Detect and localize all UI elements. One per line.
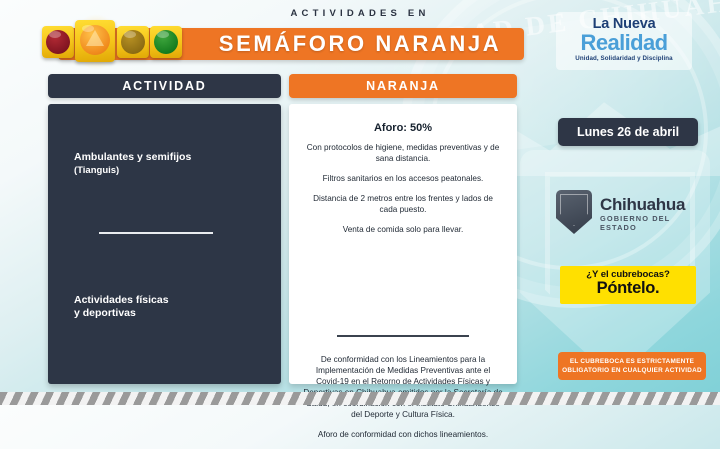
activity-list-panel: Ambulantes y semifijos (Tianguis) Activi…	[48, 104, 281, 384]
rule-item: Con protocolos de higiene, medidas preve…	[305, 142, 501, 164]
legal-note-item: Aforo de conformidad con dichos lineamie…	[303, 429, 503, 440]
traffic-light-yellow-icon	[117, 26, 149, 58]
gov-logo-text: Chihuahua GOBIERNO DEL ESTADO	[600, 196, 706, 232]
traffic-light-graphic	[42, 18, 182, 66]
activity-divider	[99, 232, 213, 234]
realidad-logo-line2: Realidad	[556, 32, 692, 54]
state-shield-icon	[556, 190, 592, 234]
mask-banner-line1: EL CUBREBOCA ES ESTRICTAMENTE	[570, 357, 694, 366]
rule-item: Filtros sanitarios en los accesos peaton…	[305, 173, 501, 184]
column-header-activity: ACTIVIDAD	[48, 74, 281, 98]
watermark-shield	[520, 150, 710, 380]
hazard-stripe-footer	[0, 392, 720, 405]
traffic-light-orange-icon	[75, 20, 115, 62]
mask-banner-line2: OBLIGATORIO EN CUALQUIER ACTIVIDAD	[562, 366, 702, 375]
chihuahua-government-logo: Chihuahua GOBIERNO DEL ESTADO	[556, 190, 706, 236]
activity-item-1: Ambulantes y semifijos (Tianguis)	[74, 151, 191, 177]
mask-campaign-badge: ¿Y el cubrebocas? Póntelo.	[560, 266, 696, 304]
page-title: SEMÁFORO NARANJA	[200, 31, 520, 57]
activity-item-2-subtitle: y deportivas	[74, 307, 169, 320]
legal-note-item: De conformidad con los Lineamientos para…	[303, 354, 503, 420]
realidad-logo-tagline: Unidad, Solidaridad y Disciplina	[556, 55, 692, 62]
activity-item-2-title: Actividades físicas	[74, 294, 169, 307]
column-header-naranja: NARANJA	[289, 74, 517, 98]
card-divider	[337, 335, 469, 337]
mask-badge-line2: Póntelo.	[560, 280, 696, 297]
activity-item-2: Actividades físicas y deportivas	[74, 294, 169, 320]
gov-logo-name: Chihuahua	[600, 196, 706, 214]
mask-mandatory-banner: EL CUBREBOCA ES ESTRICTAMENTE OBLIGATORI…	[558, 352, 706, 380]
rule-item: Venta de comida solo para llevar.	[305, 224, 501, 235]
date-badge: Lunes 26 de abril	[558, 118, 698, 146]
header-kicker: ACTIVIDADES EN	[200, 8, 520, 19]
activity-item-1-title: Ambulantes y semifijos	[74, 151, 191, 164]
la-nueva-realidad-logo: La Nueva Realidad Unidad, Solidaridad y …	[556, 12, 692, 70]
traffic-light-red-icon	[42, 26, 74, 58]
rule-item: Distancia de 2 metros entre los frentes …	[305, 193, 501, 215]
rules-card: Aforo: 50% Con protocolos de higiene, me…	[289, 104, 517, 384]
rules-list: Con protocolos de higiene, medidas preve…	[305, 142, 501, 244]
activity-item-1-subtitle: (Tianguis)	[74, 164, 191, 177]
gov-logo-subtitle: GOBIERNO DEL ESTADO	[600, 214, 706, 232]
traffic-light-green-icon	[150, 26, 182, 58]
aforo-label: Aforo: 50%	[289, 122, 517, 134]
